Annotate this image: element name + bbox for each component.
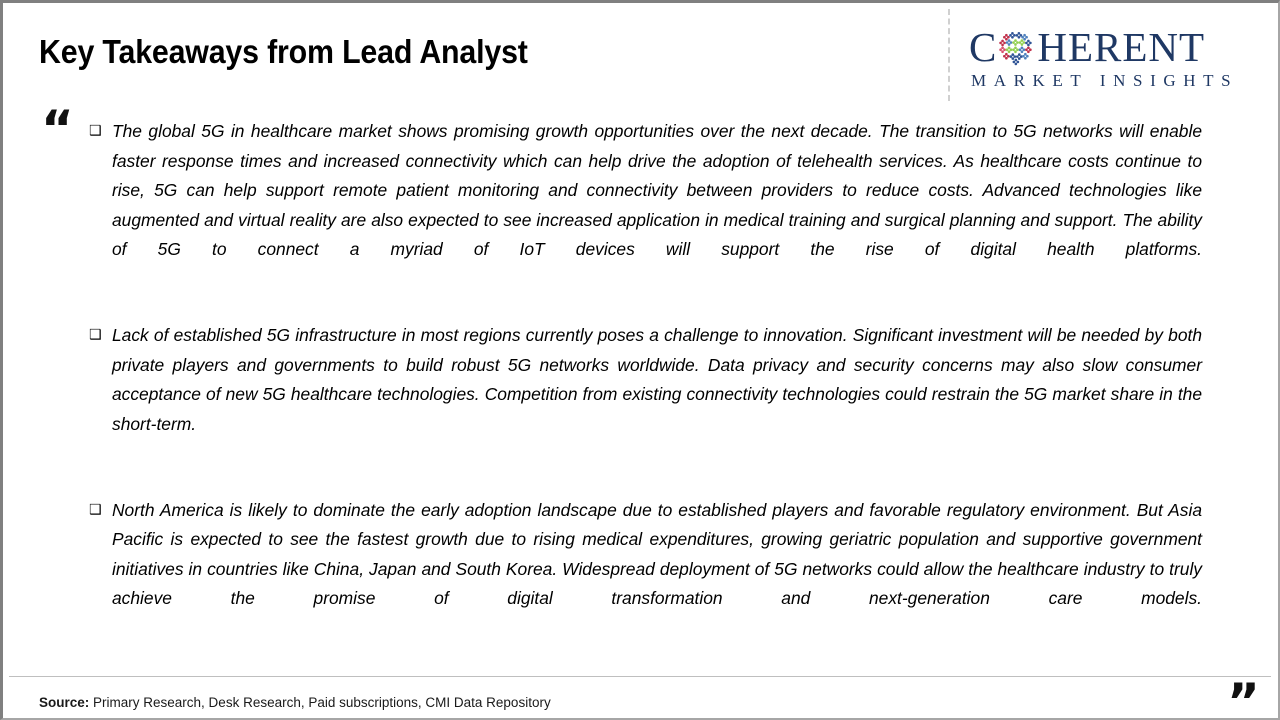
takeaway-text: North America is likely to dominate the … bbox=[112, 496, 1202, 644]
source-value: Primary Research, Desk Research, Paid su… bbox=[93, 695, 551, 710]
square-bullet-icon: ❑ bbox=[89, 321, 112, 351]
dotted-globe-icon bbox=[998, 30, 1036, 68]
logo-letter-c: C bbox=[969, 25, 997, 69]
dashed-vertical-divider-icon bbox=[948, 9, 950, 101]
list-item[interactable]: ❑ North America is likely to dominate th… bbox=[89, 496, 1202, 644]
footer-divider bbox=[9, 676, 1271, 677]
source-label: Source: bbox=[39, 695, 89, 710]
list-item[interactable]: ❑ Lack of established 5G infrastructure … bbox=[89, 321, 1202, 469]
takeaways-list: ❑ The global 5G in healthcare market sho… bbox=[89, 117, 1202, 643]
takeaway-text: Lack of established 5G infrastructure in… bbox=[112, 321, 1202, 469]
opening-quote-icon: “ bbox=[41, 109, 74, 149]
square-bullet-icon: ❑ bbox=[89, 496, 112, 526]
slide-header: Key Takeaways from Lead Analyst C bbox=[3, 3, 1278, 103]
takeaway-text: The global 5G in healthcare market shows… bbox=[112, 117, 1202, 294]
logo-wordmark-rest: HERENT bbox=[1037, 25, 1205, 69]
slide-canvas: Key Takeaways from Lead Analyst C bbox=[0, 0, 1280, 720]
closing-quote-icon: ” bbox=[1227, 682, 1260, 720]
list-item[interactable]: ❑ The global 5G in healthcare market sho… bbox=[89, 117, 1202, 294]
page-title: Key Takeaways from Lead Analyst bbox=[39, 33, 528, 71]
source-line: Source: Primary Research, Desk Research,… bbox=[39, 695, 551, 710]
company-logo[interactable]: C bbox=[969, 25, 1269, 97]
logo-subtitle: MARKET INSIGHTS bbox=[971, 71, 1238, 91]
square-bullet-icon: ❑ bbox=[89, 117, 112, 147]
logo-wordmark: C bbox=[969, 25, 1269, 69]
